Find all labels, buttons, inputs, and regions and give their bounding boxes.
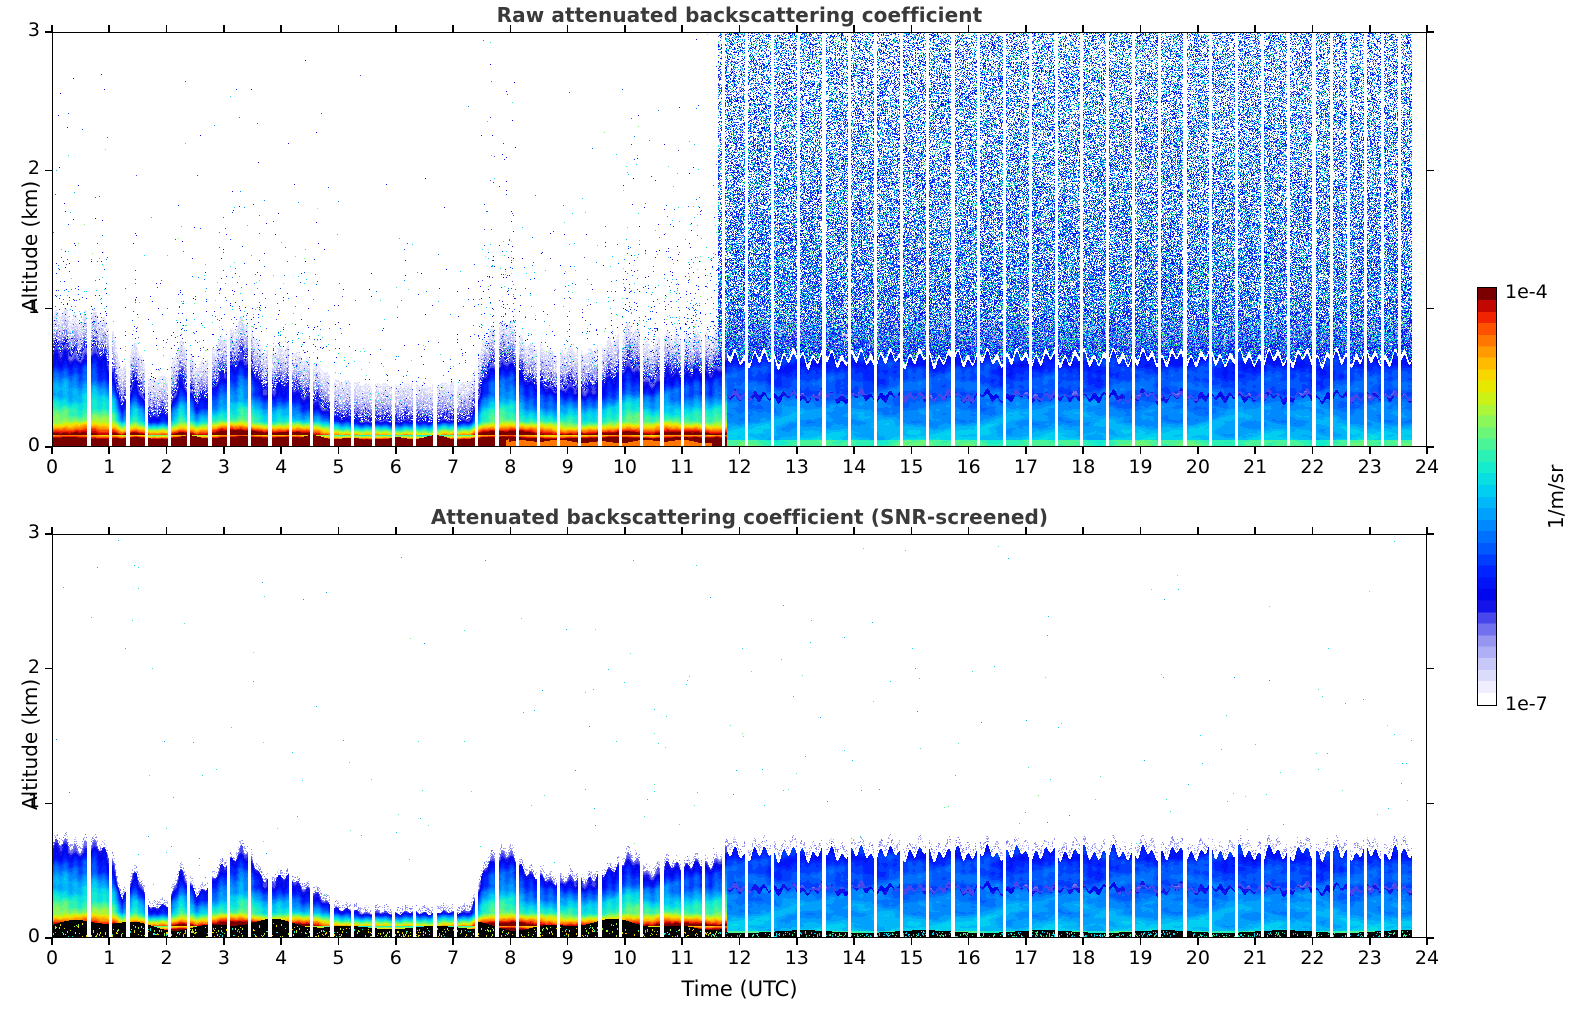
x-tick-label-raw-10: 10	[605, 456, 645, 478]
colorbar-max-label: 1e-4	[1505, 281, 1548, 303]
x-tick-raw-0	[51, 447, 53, 454]
x-tick-top-screened-6	[395, 527, 397, 534]
y-tick-raw-3	[45, 31, 52, 33]
y-tick-label-raw-2: 2	[6, 157, 40, 179]
x-tick-screened-16	[968, 938, 970, 945]
x-tick-label-screened-22: 22	[1292, 947, 1332, 969]
x-tick-raw-10	[624, 447, 626, 454]
x-tick-screened-14	[853, 938, 855, 945]
x-tick-raw-19	[1140, 447, 1142, 454]
x-tick-label-screened-13: 13	[777, 947, 817, 969]
x-tick-label-screened-11: 11	[662, 947, 702, 969]
x-tick-top-raw-8	[510, 25, 512, 32]
x-tick-raw-22	[1312, 447, 1314, 454]
y-tick-right-screened-2	[1427, 668, 1434, 670]
x-tick-label-screened-21: 21	[1235, 947, 1275, 969]
x-tick-raw-17	[1025, 447, 1027, 454]
x-tick-label-screened-4: 4	[261, 947, 301, 969]
x-tick-raw-14	[853, 447, 855, 454]
y-tick-label-raw-0: 0	[6, 434, 40, 456]
x-tick-screened-0	[51, 938, 53, 945]
x-tick-top-screened-5	[338, 527, 340, 534]
x-tick-top-screened-22	[1312, 527, 1314, 534]
x-tick-top-raw-7	[452, 25, 454, 32]
x-tick-raw-15	[911, 447, 913, 454]
x-tick-top-screened-14	[853, 527, 855, 534]
x-tick-raw-9	[567, 447, 569, 454]
y-tick-label-screened-0: 0	[6, 925, 40, 947]
y-tick-label-raw-3: 3	[6, 19, 40, 41]
x-tick-top-screened-20	[1197, 527, 1199, 534]
y-tick-right-raw-0	[1427, 446, 1434, 448]
x-tick-label-raw-16: 16	[949, 456, 989, 478]
x-tick-label-raw-5: 5	[318, 456, 358, 478]
x-tick-top-screened-12	[739, 527, 741, 534]
y-tick-right-screened-0	[1427, 937, 1434, 939]
plot-area-screened[interactable]	[52, 534, 1427, 938]
x-tick-label-screened-3: 3	[204, 947, 244, 969]
x-tick-label-raw-2: 2	[147, 456, 187, 478]
x-tick-label-raw-17: 17	[1006, 456, 1046, 478]
colorbar-min-label: 1e-7	[1505, 693, 1548, 715]
x-tick-screened-11	[681, 938, 683, 945]
x-tick-label-screened-2: 2	[147, 947, 187, 969]
x-tick-label-raw-23: 23	[1350, 456, 1390, 478]
x-tick-raw-11	[681, 447, 683, 454]
x-tick-top-screened-21	[1254, 527, 1256, 534]
y-tick-screened-3	[45, 533, 52, 535]
y-tick-label-raw-1: 1	[6, 296, 40, 318]
x-tick-top-raw-10	[624, 25, 626, 32]
x-tick-label-raw-24: 24	[1407, 456, 1447, 478]
x-tick-screened-3	[223, 938, 225, 945]
x-tick-raw-3	[223, 447, 225, 454]
x-tick-top-raw-3	[223, 25, 225, 32]
x-tick-top-screened-11	[681, 527, 683, 534]
x-tick-top-screened-8	[510, 527, 512, 534]
y-tick-screened-1	[45, 803, 52, 805]
x-tick-raw-24	[1426, 447, 1428, 454]
x-tick-label-screened-7: 7	[433, 947, 473, 969]
panel-title-screened: Attenuated backscattering coefficient (S…	[52, 505, 1427, 529]
x-tick-label-raw-8: 8	[490, 456, 530, 478]
x-tick-label-raw-22: 22	[1292, 456, 1332, 478]
x-tick-label-raw-6: 6	[376, 456, 416, 478]
x-tick-screened-7	[452, 938, 454, 945]
x-tick-raw-16	[968, 447, 970, 454]
x-tick-label-raw-3: 3	[204, 456, 244, 478]
x-tick-top-screened-18	[1082, 527, 1084, 534]
x-tick-top-raw-23	[1369, 25, 1371, 32]
x-tick-label-screened-12: 12	[720, 947, 760, 969]
x-tick-screened-4	[280, 938, 282, 945]
x-tick-top-raw-13	[796, 25, 798, 32]
x-tick-label-screened-15: 15	[891, 947, 931, 969]
x-tick-screened-10	[624, 938, 626, 945]
x-tick-label-screened-1: 1	[89, 947, 129, 969]
x-tick-raw-8	[510, 447, 512, 454]
x-tick-raw-7	[452, 447, 454, 454]
x-tick-top-screened-7	[452, 527, 454, 534]
x-tick-screened-24	[1426, 938, 1428, 945]
x-tick-screened-20	[1197, 938, 1199, 945]
x-tick-top-screened-10	[624, 527, 626, 534]
x-tick-top-raw-18	[1082, 25, 1084, 32]
x-tick-top-raw-5	[338, 25, 340, 32]
x-tick-top-raw-9	[567, 25, 569, 32]
x-tick-label-screened-19: 19	[1121, 947, 1161, 969]
x-tick-label-raw-14: 14	[834, 456, 874, 478]
x-tick-top-screened-4	[280, 527, 282, 534]
x-tick-raw-1	[108, 447, 110, 454]
x-tick-top-screened-15	[911, 527, 913, 534]
x-tick-top-screened-16	[968, 527, 970, 534]
x-tick-screened-18	[1082, 938, 1084, 945]
x-tick-top-raw-22	[1312, 25, 1314, 32]
x-tick-label-raw-20: 20	[1178, 456, 1218, 478]
x-tick-label-raw-0: 0	[32, 456, 72, 478]
colorbar-canvas	[1478, 288, 1496, 705]
x-tick-top-screened-1	[108, 527, 110, 534]
x-tick-raw-18	[1082, 447, 1084, 454]
x-tick-top-raw-20	[1197, 25, 1199, 32]
y-tick-right-screened-1	[1427, 803, 1434, 805]
x-tick-label-raw-1: 1	[89, 456, 129, 478]
x-tick-label-raw-12: 12	[720, 456, 760, 478]
x-tick-screened-15	[911, 938, 913, 945]
x-tick-top-screened-13	[796, 527, 798, 534]
x-tick-label-raw-9: 9	[548, 456, 588, 478]
x-tick-screened-23	[1369, 938, 1371, 945]
x-tick-screened-12	[739, 938, 741, 945]
x-tick-top-raw-17	[1025, 25, 1027, 32]
x-tick-label-raw-21: 21	[1235, 456, 1275, 478]
x-tick-raw-12	[739, 447, 741, 454]
x-tick-top-raw-21	[1254, 25, 1256, 32]
x-tick-raw-20	[1197, 447, 1199, 454]
x-tick-top-screened-23	[1369, 527, 1371, 534]
x-tick-label-screened-14: 14	[834, 947, 874, 969]
x-tick-screened-22	[1312, 938, 1314, 945]
x-tick-top-raw-14	[853, 25, 855, 32]
x-tick-top-screened-17	[1025, 527, 1027, 534]
heatmap-canvas-screened	[53, 535, 1427, 938]
x-tick-screened-8	[510, 938, 512, 945]
x-tick-label-raw-11: 11	[662, 456, 702, 478]
y-tick-screened-0	[45, 937, 52, 939]
x-tick-screened-6	[395, 938, 397, 945]
x-tick-screened-9	[567, 938, 569, 945]
x-tick-label-screened-18: 18	[1063, 947, 1103, 969]
y-tick-raw-0	[45, 446, 52, 448]
x-tick-raw-21	[1254, 447, 1256, 454]
x-tick-screened-13	[796, 938, 798, 945]
x-tick-label-raw-19: 19	[1121, 456, 1161, 478]
x-tick-top-raw-6	[395, 25, 397, 32]
x-tick-raw-4	[280, 447, 282, 454]
y-tick-right-raw-2	[1427, 170, 1434, 172]
x-tick-top-raw-1	[108, 25, 110, 32]
x-tick-label-screened-23: 23	[1350, 947, 1390, 969]
y-tick-label-screened-3: 3	[6, 521, 40, 543]
y-axis-label-raw: Altitude (km)	[18, 181, 42, 312]
y-tick-label-screened-2: 2	[6, 656, 40, 678]
x-tick-screened-21	[1254, 938, 1256, 945]
x-tick-screened-5	[338, 938, 340, 945]
x-tick-raw-23	[1369, 447, 1371, 454]
x-tick-label-screened-9: 9	[548, 947, 588, 969]
y-tick-raw-1	[45, 308, 52, 310]
x-tick-label-raw-4: 4	[261, 456, 301, 478]
y-tick-screened-2	[45, 668, 52, 670]
x-tick-top-screened-3	[223, 527, 225, 534]
x-tick-top-screened-19	[1140, 527, 1142, 534]
x-tick-label-raw-15: 15	[891, 456, 931, 478]
x-tick-screened-1	[108, 938, 110, 945]
x-tick-screened-2	[166, 938, 168, 945]
x-tick-label-screened-5: 5	[318, 947, 358, 969]
x-tick-top-raw-19	[1140, 25, 1142, 32]
x-tick-label-raw-7: 7	[433, 456, 473, 478]
x-tick-screened-17	[1025, 938, 1027, 945]
x-tick-raw-13	[796, 447, 798, 454]
x-tick-top-raw-4	[280, 25, 282, 32]
x-tick-top-screened-2	[166, 527, 168, 534]
x-tick-label-screened-17: 17	[1006, 947, 1046, 969]
x-tick-top-screened-9	[567, 527, 569, 534]
x-tick-top-raw-2	[166, 25, 168, 32]
heatmap-canvas-raw	[53, 33, 1427, 447]
x-tick-label-screened-16: 16	[949, 947, 989, 969]
colorbar-unit-label: 1/m/sr	[1544, 465, 1568, 529]
x-tick-top-raw-11	[681, 25, 683, 32]
x-tick-raw-5	[338, 447, 340, 454]
x-tick-label-raw-13: 13	[777, 456, 817, 478]
x-axis-label: Time (UTC)	[52, 977, 1427, 1001]
panel-title-raw: Raw attenuated backscattering coefficien…	[52, 3, 1427, 27]
x-tick-top-raw-15	[911, 25, 913, 32]
y-tick-label-screened-1: 1	[6, 790, 40, 812]
x-tick-raw-2	[166, 447, 168, 454]
x-tick-label-screened-24: 24	[1407, 947, 1447, 969]
y-tick-raw-2	[45, 170, 52, 172]
x-tick-label-screened-10: 10	[605, 947, 645, 969]
x-tick-raw-6	[395, 447, 397, 454]
x-tick-label-screened-6: 6	[376, 947, 416, 969]
x-tick-top-raw-16	[968, 25, 970, 32]
x-tick-top-raw-12	[739, 25, 741, 32]
lidar-backscatter-figure: Raw attenuated backscattering coefficien…	[0, 0, 1595, 1020]
x-tick-label-screened-8: 8	[490, 947, 530, 969]
x-tick-screened-19	[1140, 938, 1142, 945]
x-tick-label-screened-0: 0	[32, 947, 72, 969]
y-tick-right-raw-1	[1427, 308, 1434, 310]
y-tick-right-screened-3	[1427, 533, 1434, 535]
x-tick-label-raw-18: 18	[1063, 456, 1103, 478]
y-tick-right-raw-3	[1427, 31, 1434, 33]
x-tick-label-screened-20: 20	[1178, 947, 1218, 969]
plot-area-raw[interactable]	[52, 32, 1427, 447]
colorbar	[1477, 287, 1497, 706]
